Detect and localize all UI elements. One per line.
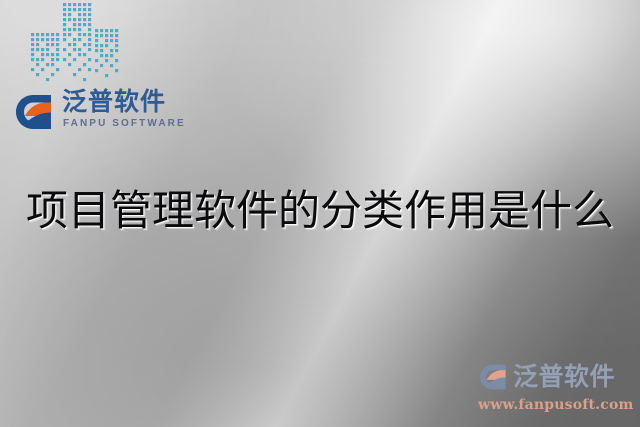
pixel-city-icon <box>30 0 122 86</box>
fanpu-logo-mark <box>13 90 57 134</box>
watermark-row: 泛普软件 <box>478 359 634 395</box>
brand-text-block: 泛普软件 FANPU SOFTWARE <box>62 88 186 130</box>
brand-name-cn: 泛普软件 <box>62 88 186 116</box>
fanpu-watermark-icon <box>478 361 510 393</box>
brand-logo: 泛普软件 FANPU SOFTWARE <box>13 88 173 140</box>
brand-name-en: FANPU SOFTWARE <box>63 117 186 130</box>
fanpu-mark-icon <box>13 90 57 134</box>
fanpu-watermark-mark <box>478 361 510 393</box>
image-canvas: 泛普软件 FANPU SOFTWARE 项目管理软件的分类作用是什么 泛普软件 … <box>0 0 640 427</box>
pixel-city-graphic <box>30 0 122 86</box>
watermark-name-cn: 泛普软件 <box>513 362 615 392</box>
watermark: 泛普软件 www.fanpusoft.com <box>478 359 634 417</box>
page-title: 项目管理软件的分类作用是什么 <box>0 183 640 239</box>
watermark-url: www.fanpusoft.com <box>478 396 634 414</box>
